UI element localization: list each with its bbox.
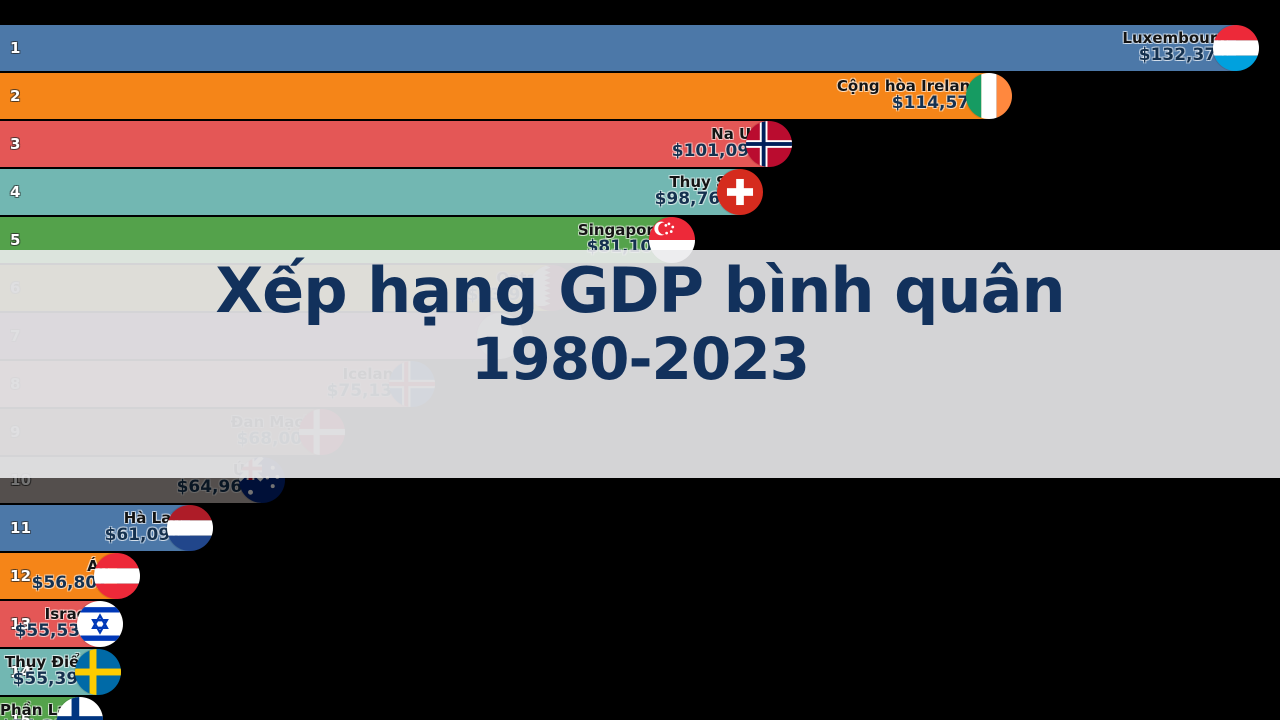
bar [0,121,769,167]
chart-bar-row: 11Hà Lan$61,097 [0,504,1280,552]
chart-bar-row: 2Cộng hòa Ireland$114,579 [0,72,1280,120]
bar-chart-race-video-frame: 1Luxembourg$132,3752Cộng hòa Ireland$114… [0,0,1280,720]
bar-rank-number: 13 [10,615,31,633]
bar [0,25,1236,71]
flag-icon-netherlands [167,505,213,551]
chart-bar-row: 15Phần Lan$54,354 [0,696,1280,720]
title-overlay-panel [0,250,1280,478]
chart-bar-row: 1Luxembourg$132,375 [0,24,1280,72]
flag-icon-switzerland [717,169,763,215]
flag-icon-israel [77,601,123,647]
chart-bar-row: 14Thụy Điển$55,395 [0,648,1280,696]
chart-bar-row: 3Na Uy$101,095 [0,120,1280,168]
bar-rank-number: 5 [10,231,21,249]
flag-icon-ireland [966,73,1012,119]
bar [0,169,740,215]
flag-icon-sweden [75,649,121,695]
bar-rank-number: 3 [10,135,21,153]
bar-rank-number: 4 [10,183,21,201]
letterbox-top [0,0,1280,14]
chart-bar-row: 13Israel$55,538 [0,600,1280,648]
chart-bar-row: 12Áo$56,802 [0,552,1280,600]
bar-rank-number: 2 [10,87,21,105]
flag-icon-luxembourg [1213,25,1259,71]
bar-rank-number: 14 [10,663,31,681]
chart-bar-row: 4Thụy Sĩ$98,762 [0,168,1280,216]
bar-rank-number: 11 [10,519,31,537]
bar [0,73,989,119]
flag-icon-norway [746,121,792,167]
bar-rank-number: 12 [10,567,31,585]
flag-icon-austria [94,553,140,599]
bar-rank-number: 15 [10,711,31,720]
bar-rank-number: 1 [10,39,21,57]
